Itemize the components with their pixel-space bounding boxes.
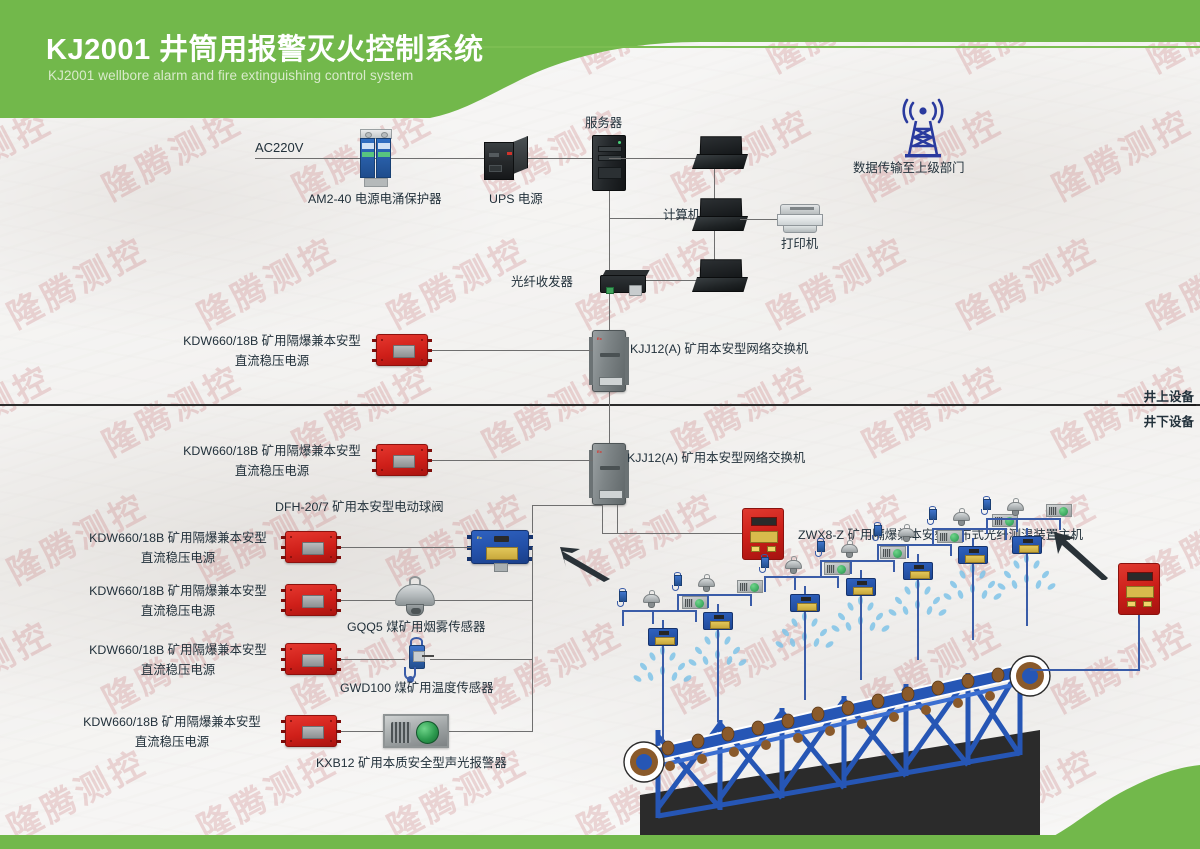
station-temp-drop	[986, 518, 988, 534]
wire-psu2-to-valve	[335, 547, 471, 548]
computer-label: 计算机	[663, 207, 700, 224]
laptop-icon	[692, 136, 748, 170]
valve-label: DFH-20/7 矿用本安型电动球阀	[275, 499, 444, 516]
fiber-temperature-host-icon	[1118, 563, 1160, 615]
station-alarm-drop	[950, 544, 952, 556]
diagram-canvas: 隆腾测控隆腾测控隆腾测控隆腾测控隆腾测控隆腾测控隆腾测控隆腾测控隆腾测控隆腾测控…	[0, 0, 1200, 849]
underground-network-switch-icon: Ex	[592, 443, 626, 505]
underground-psu1-label-line1: KDW660/18B 矿用隔爆兼本安型	[172, 443, 372, 460]
explosion-proof-power-supply-icon	[285, 643, 337, 675]
electric-ball-valve-icon	[648, 628, 678, 646]
surface-psu-label-line1: KDW660/18B 矿用隔爆兼本安型	[172, 333, 372, 350]
explosion-proof-power-supply-icon	[376, 334, 428, 366]
wire-switch-to-fiber-host	[602, 533, 742, 534]
sprinkler-feed-line	[972, 564, 974, 640]
smoke-sensor-icon	[393, 576, 437, 620]
station-header-wire	[986, 518, 1060, 520]
printer-icon	[777, 204, 823, 236]
sprinkler-feed-line	[662, 646, 664, 742]
station-smoke-drop	[1016, 518, 1018, 532]
station-temp-drop	[622, 610, 624, 626]
underground-psu1-label-line2: 直流稳压电源	[172, 463, 372, 480]
sound-light-alarm-icon	[937, 530, 963, 543]
smoke-sensor-icon	[953, 508, 970, 527]
explosion-proof-power-supply-icon	[376, 444, 428, 476]
underground-psu4-label-line1: KDW660/18B 矿用隔爆兼本安型	[78, 642, 278, 659]
sprinkler-feed-line	[717, 630, 719, 722]
underground-psu3-label-line2: 直流稳压电源	[78, 603, 278, 620]
wire-alarm-to-bus	[448, 731, 532, 732]
printer-label: 打印机	[781, 236, 818, 253]
sound-light-alarm-icon	[1046, 504, 1072, 517]
station-alarm-drop	[1005, 528, 1007, 540]
sprinkler-feed-line	[860, 596, 862, 680]
wire-smoke-to-bus	[427, 600, 532, 601]
surface-underground-divider	[0, 404, 1200, 406]
sound-light-alarm-icon	[737, 580, 763, 593]
temperature-sensor-icon	[396, 637, 436, 683]
cross-divider-wire	[609, 391, 610, 449]
station-smoke-drop	[962, 528, 964, 542]
station-alarm-drop	[893, 560, 895, 572]
temperature-sensor-icon	[979, 496, 994, 516]
smoke-sensor-icon	[698, 574, 715, 593]
station-header-wire	[820, 560, 894, 562]
sound-light-alarm-icon	[880, 546, 906, 559]
valve-bus-vertical	[532, 547, 533, 732]
ups-icon	[484, 136, 528, 180]
wire-temp-to-bus	[430, 659, 532, 660]
station-smoke-drop	[907, 544, 909, 558]
explosion-proof-power-supply-icon	[285, 584, 337, 616]
station-header-wire	[877, 544, 951, 546]
station-alarm-drop	[695, 610, 697, 622]
electric-ball-valve-icon	[958, 546, 988, 564]
underground-psu3-label-line1: KDW660/18B 矿用隔爆兼本安型	[78, 583, 278, 600]
wire-valve-to-switch	[532, 505, 602, 506]
wire-psu1-to-switch	[425, 460, 593, 461]
station-temp-drop	[677, 594, 679, 610]
temperature-sensor-icon	[925, 506, 940, 526]
station-alarm-drop	[837, 576, 839, 588]
surface-switch-label: KJJ12(A) 矿用本安型网络交换机	[630, 341, 808, 358]
station-temp-drop	[877, 544, 879, 560]
underground-psu4-label-line2: 直流稳压电源	[78, 662, 278, 679]
fiber-temperature-host-icon	[742, 508, 784, 560]
alarm-label: KXB12 矿用本质安全型声光报警器	[316, 755, 507, 772]
wire-psu5-to-alarm	[335, 731, 383, 732]
station-header-wire	[764, 576, 838, 578]
smoke-sensor-icon	[643, 590, 660, 609]
station-smoke-drop	[850, 560, 852, 574]
underground-switch-label: KJJ12(A) 矿用本安型网络交换机	[627, 450, 805, 467]
header-accent-line	[430, 46, 1200, 48]
wire-laptop-printer	[740, 219, 778, 220]
explosion-proof-power-supply-icon	[285, 531, 337, 563]
server-backbone-wire	[609, 191, 610, 334]
arrow-icon	[560, 545, 620, 590]
station-temp-drop	[932, 528, 934, 544]
station-alarm-drop	[750, 594, 752, 606]
sprinkler-feed-line	[917, 580, 919, 660]
antenna-icon	[885, 97, 961, 159]
server-icon	[592, 135, 626, 191]
electric-ball-valve-icon	[846, 578, 876, 596]
temperature-sensor-icon	[670, 572, 685, 592]
smoke-sensor-icon	[841, 540, 858, 559]
station-alarm-drop	[1059, 518, 1061, 530]
smoke-sensor-icon	[898, 524, 915, 543]
page-subtitle: KJ2001 wellbore alarm and fire extinguis…	[48, 68, 413, 83]
station-smoke-drop	[794, 576, 796, 590]
underground-psu2-label-line1: KDW660/18B 矿用隔爆兼本安型	[78, 530, 278, 547]
media-converter-icon	[600, 270, 648, 294]
station-header-wire	[622, 610, 696, 612]
electric-ball-valve-icon	[790, 594, 820, 612]
explosion-proof-power-supply-icon	[285, 715, 337, 747]
smoke-sensor-icon	[785, 556, 802, 575]
sprinkler-feed-line	[1026, 554, 1028, 626]
switch-down-wire-b	[617, 505, 618, 534]
water-spray-icon	[687, 630, 767, 688]
sprinkler-feed-line	[804, 612, 806, 700]
sound-light-alarm-icon	[682, 596, 708, 609]
temperature-sensor-label: GWD100 煤矿用温度传感器	[340, 680, 494, 697]
surface-psu-label-line2: 直流稳压电源	[172, 353, 372, 370]
smoke-sensor-icon	[1007, 498, 1024, 517]
wire-psu4-to-temp	[335, 659, 405, 660]
server-label: 服务器	[585, 115, 622, 132]
switch-down-wire-a	[602, 505, 603, 534]
station-header-wire	[932, 528, 1006, 530]
temperature-sensor-icon	[813, 538, 828, 558]
station-smoke-drop	[652, 610, 654, 624]
underground-psu2-label-line2: 直流稳压电源	[78, 550, 278, 567]
water-spray-icon	[996, 554, 1076, 612]
label-above-ground: 井上设备	[1144, 386, 1194, 405]
electric-ball-valve-icon	[1012, 536, 1042, 554]
electric-ball-valve-icon	[703, 612, 733, 630]
ups-label: UPS 电源	[489, 191, 543, 208]
temperature-sensor-icon	[870, 522, 885, 542]
ac-power-label: AC220V	[255, 139, 303, 156]
temperature-sensor-icon	[757, 554, 772, 574]
label-below-ground: 井下设备	[1144, 411, 1194, 430]
surge-protector-icon	[357, 129, 395, 187]
station-header-wire	[677, 594, 751, 596]
fiber-host-to-conveyor-wire	[1030, 669, 1140, 671]
fiber-host-down-wire	[1138, 615, 1140, 670]
temperature-sensor-icon	[615, 588, 630, 608]
station-temp-drop	[764, 576, 766, 592]
station-smoke-drop	[707, 594, 709, 608]
laptop-icon	[692, 198, 748, 232]
ac-power-bus	[255, 158, 600, 159]
wire-psu-to-switch-surface	[425, 350, 593, 351]
sound-light-alarm-icon	[824, 562, 850, 575]
footer-bar	[0, 835, 1200, 849]
underground-psu5-label-line2: 直流稳压电源	[72, 734, 272, 751]
surge-protector-label: AM2-40 电源电涌保护器	[308, 191, 442, 208]
electric-ball-valve-icon	[903, 562, 933, 580]
electric-ball-valve-icon: Ex	[471, 530, 529, 564]
smoke-sensor-label: GQQ5 煤矿用烟雾传感器	[347, 619, 485, 636]
underground-psu5-label-line1: KDW660/18B 矿用隔爆兼本安型	[72, 714, 272, 731]
sound-light-alarm-icon	[383, 714, 449, 748]
valve-riser	[532, 505, 533, 533]
page-title: KJ2001 井筒用报警灭火控制系统	[46, 26, 484, 68]
laptop-icon	[692, 259, 748, 293]
media-converter-label: 光纤收发器	[511, 274, 573, 291]
station-temp-drop	[820, 560, 822, 576]
network-switch-icon: Ex	[592, 330, 626, 392]
uplink-label: 数据传输至上级部门	[853, 160, 965, 177]
